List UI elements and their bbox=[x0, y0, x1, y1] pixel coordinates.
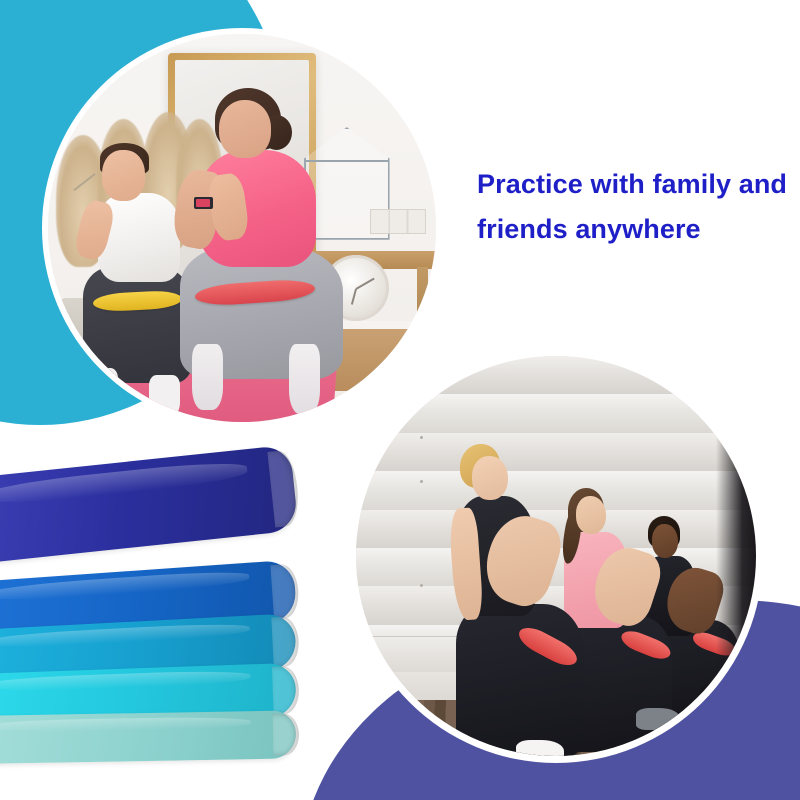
wall-sit-scene bbox=[356, 356, 756, 756]
page-title: Practice with family and friends anywher… bbox=[477, 162, 789, 252]
wall-nail bbox=[420, 584, 423, 587]
woman-head bbox=[219, 100, 271, 158]
storage-boxes bbox=[370, 209, 426, 234]
woman-sock-left bbox=[192, 344, 223, 410]
band-highlight bbox=[0, 458, 248, 508]
person3-head bbox=[652, 524, 678, 558]
band-highlight bbox=[0, 716, 251, 733]
band-fold bbox=[270, 563, 300, 619]
banner-canvas: Practice with family and friends anywher… bbox=[0, 0, 800, 800]
person1-head bbox=[472, 456, 508, 500]
person1-shoe bbox=[516, 740, 564, 756]
band-fold bbox=[267, 449, 301, 527]
headline-line-2: friends anywhere bbox=[477, 207, 789, 252]
band-fold bbox=[272, 666, 300, 714]
boy-head bbox=[102, 150, 145, 200]
person2-shoe bbox=[636, 708, 680, 730]
photo-dark-edge bbox=[716, 404, 756, 708]
boy-sock-right bbox=[149, 375, 180, 418]
wall-nail bbox=[420, 480, 423, 483]
resistance-band-navy bbox=[0, 445, 299, 564]
woman-sock-right bbox=[289, 344, 320, 414]
fitness-watch bbox=[194, 197, 213, 209]
wall-plank bbox=[356, 394, 756, 433]
wall-plank bbox=[356, 356, 756, 395]
band-fold bbox=[273, 713, 300, 756]
band-fold bbox=[271, 616, 300, 667]
resistance-band-stack bbox=[0, 478, 296, 768]
headline-line-1: Practice with family and bbox=[477, 162, 789, 207]
wall-sit-photo bbox=[356, 356, 756, 756]
boy-sock-left bbox=[87, 368, 118, 411]
wall-plank bbox=[356, 471, 756, 510]
resistance-band-mint bbox=[0, 710, 296, 764]
band-highlight bbox=[0, 670, 250, 693]
wall-plank bbox=[356, 433, 756, 472]
band-highlight bbox=[0, 569, 250, 603]
person1-legs bbox=[456, 604, 584, 756]
wall-nail bbox=[420, 436, 423, 439]
boy-legs bbox=[83, 267, 192, 383]
person2-head bbox=[576, 496, 606, 534]
